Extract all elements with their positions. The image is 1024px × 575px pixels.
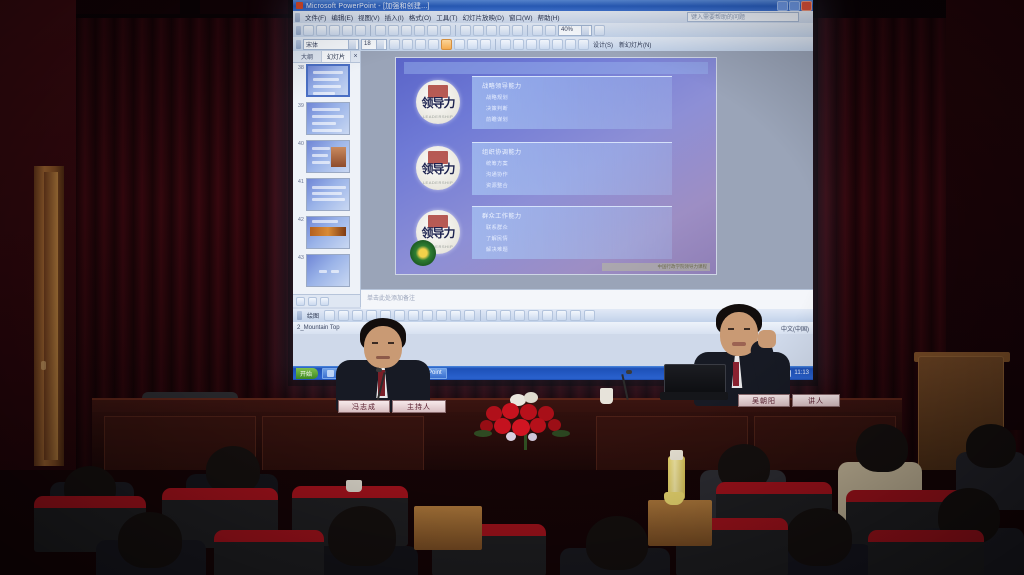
chair-headrest	[716, 482, 832, 494]
flower-red	[530, 418, 546, 433]
redo-icon[interactable]	[473, 25, 484, 36]
slideshow-icon[interactable]	[320, 297, 329, 306]
pane-footer[interactable]	[293, 294, 360, 307]
seal-text: 领导力	[421, 94, 454, 111]
yellow-bowl	[664, 492, 684, 505]
font-color-button[interactable]	[578, 39, 589, 50]
zoom-combo[interactable]: 40%	[558, 25, 592, 36]
side-table-left	[414, 506, 482, 550]
speaker-left-eye-l	[372, 342, 378, 344]
mail-icon[interactable]	[342, 25, 353, 36]
section-heading: 群众工作能力	[482, 211, 522, 220]
ceiling-beam-2	[200, 0, 290, 14]
picture-icon[interactable]	[464, 310, 475, 321]
3d-style-icon[interactable]	[584, 310, 595, 321]
thumbnail-item[interactable]: 41	[293, 176, 355, 214]
chair-headrest	[214, 530, 324, 542]
table-icon[interactable]	[499, 25, 510, 36]
audience-member-head	[586, 516, 648, 570]
zoom-value: 40%	[561, 27, 573, 33]
decrease-font-button[interactable]	[539, 39, 550, 50]
tab-slides[interactable]: 幻灯片	[322, 51, 351, 62]
seal-subtitle: LEADERSHIP	[423, 180, 453, 185]
grid-icon[interactable]	[532, 25, 543, 36]
audience-member-head	[856, 424, 908, 472]
help-search-input[interactable]: 键入需要帮助的问题	[687, 12, 799, 22]
start-button[interactable]: 开始	[296, 368, 318, 379]
paste-icon[interactable]	[440, 25, 451, 36]
drawing-separator-1	[480, 310, 481, 321]
window-title: Microsoft PowerPoint - [加强和创建...]	[306, 1, 430, 11]
cut-icon[interactable]	[414, 25, 425, 36]
align-center-button[interactable]	[454, 39, 465, 50]
menu-item-insert[interactable]: 插入(I)	[385, 12, 404, 22]
menu-item-format[interactable]: 格式(O)	[409, 12, 431, 22]
audience-member-head	[786, 508, 852, 566]
chair-headrest	[34, 496, 146, 508]
section-bullet: 解决难题	[486, 246, 508, 253]
door-panel[interactable]	[44, 172, 58, 460]
section-bullet: 前瞻谋划	[486, 116, 508, 123]
section-bullet: 资源整合	[486, 182, 508, 189]
promote-button[interactable]	[552, 39, 563, 50]
dash-style-icon[interactable]	[542, 310, 553, 321]
thumbnail-item[interactable]: 43	[293, 252, 355, 290]
fill-color-icon[interactable]	[486, 310, 497, 321]
powerpoint-title-bar: Microsoft PowerPoint - [加强和创建...]	[293, 0, 813, 11]
flower-red	[502, 403, 519, 419]
chevron-down-icon[interactable]	[348, 40, 356, 49]
new-slide-button[interactable]: 新幻灯片(N)	[617, 40, 653, 49]
formatting-grip-icon[interactable]	[296, 40, 301, 49]
close-pane-icon[interactable]: ×	[351, 51, 360, 62]
audience-member-head	[966, 424, 1016, 468]
menu-item-view[interactable]: 视图(V)	[358, 12, 380, 22]
slide-navigator-pane[interactable]: 大纲 幻灯片 × 38 39	[293, 51, 361, 307]
slide-thumbnail[interactable]	[306, 216, 350, 249]
menu-item-slideshow[interactable]: 幻灯片放映(D)	[463, 12, 505, 22]
speaker-right-mouth	[732, 342, 746, 346]
normal-view-icon[interactable]	[296, 297, 305, 306]
speaker-left-eye-r	[388, 342, 394, 344]
restore-button[interactable]	[789, 1, 800, 11]
slide-section: 组织协调能力 统筹方案 沟通协作 资源整合	[472, 142, 672, 195]
slide-number: 43	[294, 254, 306, 263]
leadership-seal-icon: 领导力 LEADERSHIP	[416, 146, 460, 190]
research-icon[interactable]	[401, 25, 412, 36]
toolbar-separator-3	[527, 25, 528, 36]
copy-icon[interactable]	[427, 25, 438, 36]
chair-headrest	[868, 530, 984, 542]
flower-white	[524, 392, 538, 403]
line-color-icon[interactable]	[500, 310, 511, 321]
slide-thumbnail[interactable]	[306, 140, 350, 173]
preview-icon[interactable]	[375, 25, 386, 36]
menu-item-edit[interactable]: 编辑(E)	[331, 12, 353, 22]
slide-thumbnail[interactable]	[306, 178, 350, 211]
slide-number: 42	[294, 216, 306, 225]
line-style-icon[interactable]	[528, 310, 539, 321]
nameplate-left-1: 冯志成	[338, 400, 390, 413]
thumbnail-item[interactable]: 42	[293, 214, 355, 252]
slide-sorter-icon[interactable]	[308, 297, 317, 306]
menu-grip-icon[interactable]	[295, 13, 300, 22]
undo-icon[interactable]	[460, 25, 471, 36]
microphone-head-left	[376, 368, 382, 372]
laptop-base	[660, 392, 728, 400]
slide-thumbnail[interactable]	[306, 102, 350, 135]
bullets-button[interactable]	[513, 39, 524, 50]
draw-menu-label[interactable]: 绘图	[305, 311, 321, 320]
tab-outline[interactable]: 大纲	[293, 51, 322, 62]
font-name-value: 宋体	[306, 40, 318, 49]
increase-font-button[interactable]	[526, 39, 537, 50]
save-icon[interactable]	[329, 25, 340, 36]
leadership-seal-icon: 领导力 LEADERSHIP	[416, 80, 460, 124]
toolbar-grip-icon[interactable]	[296, 26, 301, 35]
menu-item-file[interactable]: 文件(F)	[305, 12, 326, 22]
open-icon[interactable]	[316, 25, 327, 36]
thumbnail-item[interactable]: 40	[293, 138, 355, 176]
section-bullet: 战略规划	[486, 94, 508, 101]
font-color-icon[interactable]	[514, 310, 525, 321]
underline-button[interactable]	[415, 39, 426, 50]
slide-number: 40	[294, 140, 306, 149]
hyperlink-icon[interactable]	[486, 25, 497, 36]
toolbar-separator-1	[370, 25, 371, 36]
font-size-combo[interactable]: 18	[361, 39, 387, 50]
section-bullet: 统筹方案	[486, 160, 508, 167]
help-icon[interactable]	[594, 25, 605, 36]
drawing-grip-icon[interactable]	[297, 311, 302, 320]
font-name-combo[interactable]: 宋体	[303, 39, 359, 50]
print-icon[interactable]	[355, 25, 366, 36]
speaker-right-tie	[733, 362, 739, 386]
section-bullet: 决策判断	[486, 105, 508, 112]
section-bullet: 沟通协作	[486, 171, 508, 178]
flower-leaf	[474, 430, 492, 437]
menu-item-help[interactable]: 帮助(H)	[538, 12, 560, 22]
numbering-button[interactable]	[500, 39, 511, 50]
seal-text: 领导力	[421, 160, 454, 177]
menu-item-tools[interactable]: 工具(T)	[436, 12, 457, 22]
flower-accent	[506, 432, 516, 441]
minimize-button[interactable]	[777, 1, 788, 11]
audience-member-head	[328, 506, 396, 566]
align-right-button[interactable]	[467, 39, 478, 50]
clipart-icon[interactable]	[450, 310, 461, 321]
conference-hall-scene: Microsoft PowerPoint - [加强和创建...] 文件(F) …	[0, 0, 1024, 575]
toolbar-separator-2	[455, 25, 456, 36]
slide-number: 39	[294, 102, 306, 111]
table-panel-2	[262, 416, 424, 472]
formatting-toolbar[interactable]: 宋体 18 设计(S) 新幻灯片(N)	[293, 37, 813, 51]
microphone-head-right	[626, 370, 632, 374]
audience-member-head	[118, 512, 182, 568]
thermos-cap	[670, 450, 683, 460]
current-slide[interactable]: 领导力 LEADERSHIP 战略领导能力 战略规划 决策判断 前瞻谋划 领导力…	[395, 57, 717, 275]
shadow-button[interactable]	[428, 39, 439, 50]
align-left-button[interactable]	[441, 39, 452, 50]
close-button[interactable]	[801, 1, 812, 11]
chair-headrest	[162, 488, 278, 500]
demote-button[interactable]	[565, 39, 576, 50]
chevron-down-icon[interactable]	[376, 40, 384, 49]
thumbnail-item[interactable]: 38	[293, 62, 355, 100]
ceiling-beam-1	[60, 0, 180, 14]
slide-number: 38	[294, 64, 306, 73]
slide-thumbnail[interactable]	[306, 64, 350, 97]
slide-edit-area[interactable]: 领导力 LEADERSHIP 战略领导能力 战略规划 决策判断 前瞻谋划 领导力…	[361, 51, 813, 289]
door-knob-icon[interactable]	[41, 361, 46, 370]
shadow-style-icon[interactable]	[570, 310, 581, 321]
slide-thumbnail[interactable]	[306, 254, 350, 287]
window-controls[interactable]	[777, 1, 812, 11]
slide-section: 群众工作能力 联系群众 了解民情 解决难题	[472, 206, 672, 259]
flower-leaf	[552, 430, 570, 437]
arrow-style-icon[interactable]	[556, 310, 567, 321]
slide-section: 战略领导能力 战略规划 决策判断 前瞻谋划	[472, 76, 672, 129]
nameplate-right-2: 讲人	[792, 394, 840, 407]
chevron-down-icon[interactable]	[581, 26, 589, 35]
speaker-left	[328, 312, 438, 408]
thumbnail-list[interactable]: 38 39 40	[293, 62, 355, 307]
speaker-left-mouth	[376, 356, 390, 359]
design-button[interactable]: 设计(S)	[591, 40, 615, 49]
flower-stem	[524, 434, 527, 450]
chart-icon[interactable]	[512, 25, 523, 36]
section-heading: 组织协调能力	[482, 147, 522, 156]
new-icon[interactable]	[303, 25, 314, 36]
justify-button[interactable]	[480, 39, 491, 50]
slide-number: 41	[294, 178, 306, 187]
powerpoint-icon	[296, 2, 303, 9]
speaker-right-eye-l	[728, 328, 734, 330]
formatting-separator-1	[495, 39, 496, 50]
menu-item-window[interactable]: 窗口(W)	[509, 12, 532, 22]
bold-button[interactable]	[389, 39, 400, 50]
speaker-right-eye-r	[744, 328, 750, 330]
police-emblem-icon	[410, 240, 436, 266]
seal-subtitle: LEADERSHIP	[423, 114, 453, 119]
standard-toolbar[interactable]: 40%	[293, 23, 813, 37]
speaker-left-head	[364, 326, 402, 368]
color-icon[interactable]	[545, 25, 556, 36]
spelling-icon[interactable]	[388, 25, 399, 36]
nameplate-right-1: 吴朝阳	[738, 394, 790, 407]
font-size-value: 18	[364, 41, 371, 47]
side-table-right	[648, 500, 712, 546]
paper-cup-right	[600, 388, 613, 404]
paper-cup-left	[346, 480, 362, 492]
flower-accent	[528, 433, 537, 441]
section-bullet: 联系群众	[486, 224, 508, 231]
flower-arrangement	[472, 392, 580, 454]
section-bullet: 了解民情	[486, 235, 508, 242]
speaker-right-hand	[758, 330, 776, 348]
audience-member-head	[206, 446, 260, 494]
seal-text: 领导力	[421, 224, 454, 241]
section-heading: 战略领导能力	[482, 81, 522, 90]
slide-title-band	[404, 62, 708, 74]
slide-footer: 中国行政学院领导力课程	[602, 263, 710, 271]
thumbnail-item[interactable]: 39	[293, 100, 355, 138]
italic-button[interactable]	[402, 39, 413, 50]
nameplate-left-2: 主持人	[392, 400, 446, 413]
